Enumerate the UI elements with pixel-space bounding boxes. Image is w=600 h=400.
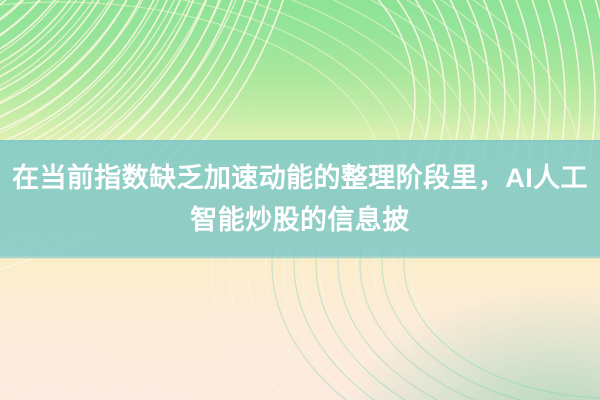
headline-line-2: 智能炒股的信息披 <box>190 201 409 239</box>
banner-canvas: 在当前指数缺乏加速动能的整理阶段里，AI人工 智能炒股的信息披 <box>0 0 600 400</box>
headline-line-1: 在当前指数缺乏加速动能的整理阶段里，AI人工 <box>12 159 588 197</box>
headline-text-block: 在当前指数缺乏加速动能的整理阶段里，AI人工 智能炒股的信息披 <box>0 140 600 258</box>
